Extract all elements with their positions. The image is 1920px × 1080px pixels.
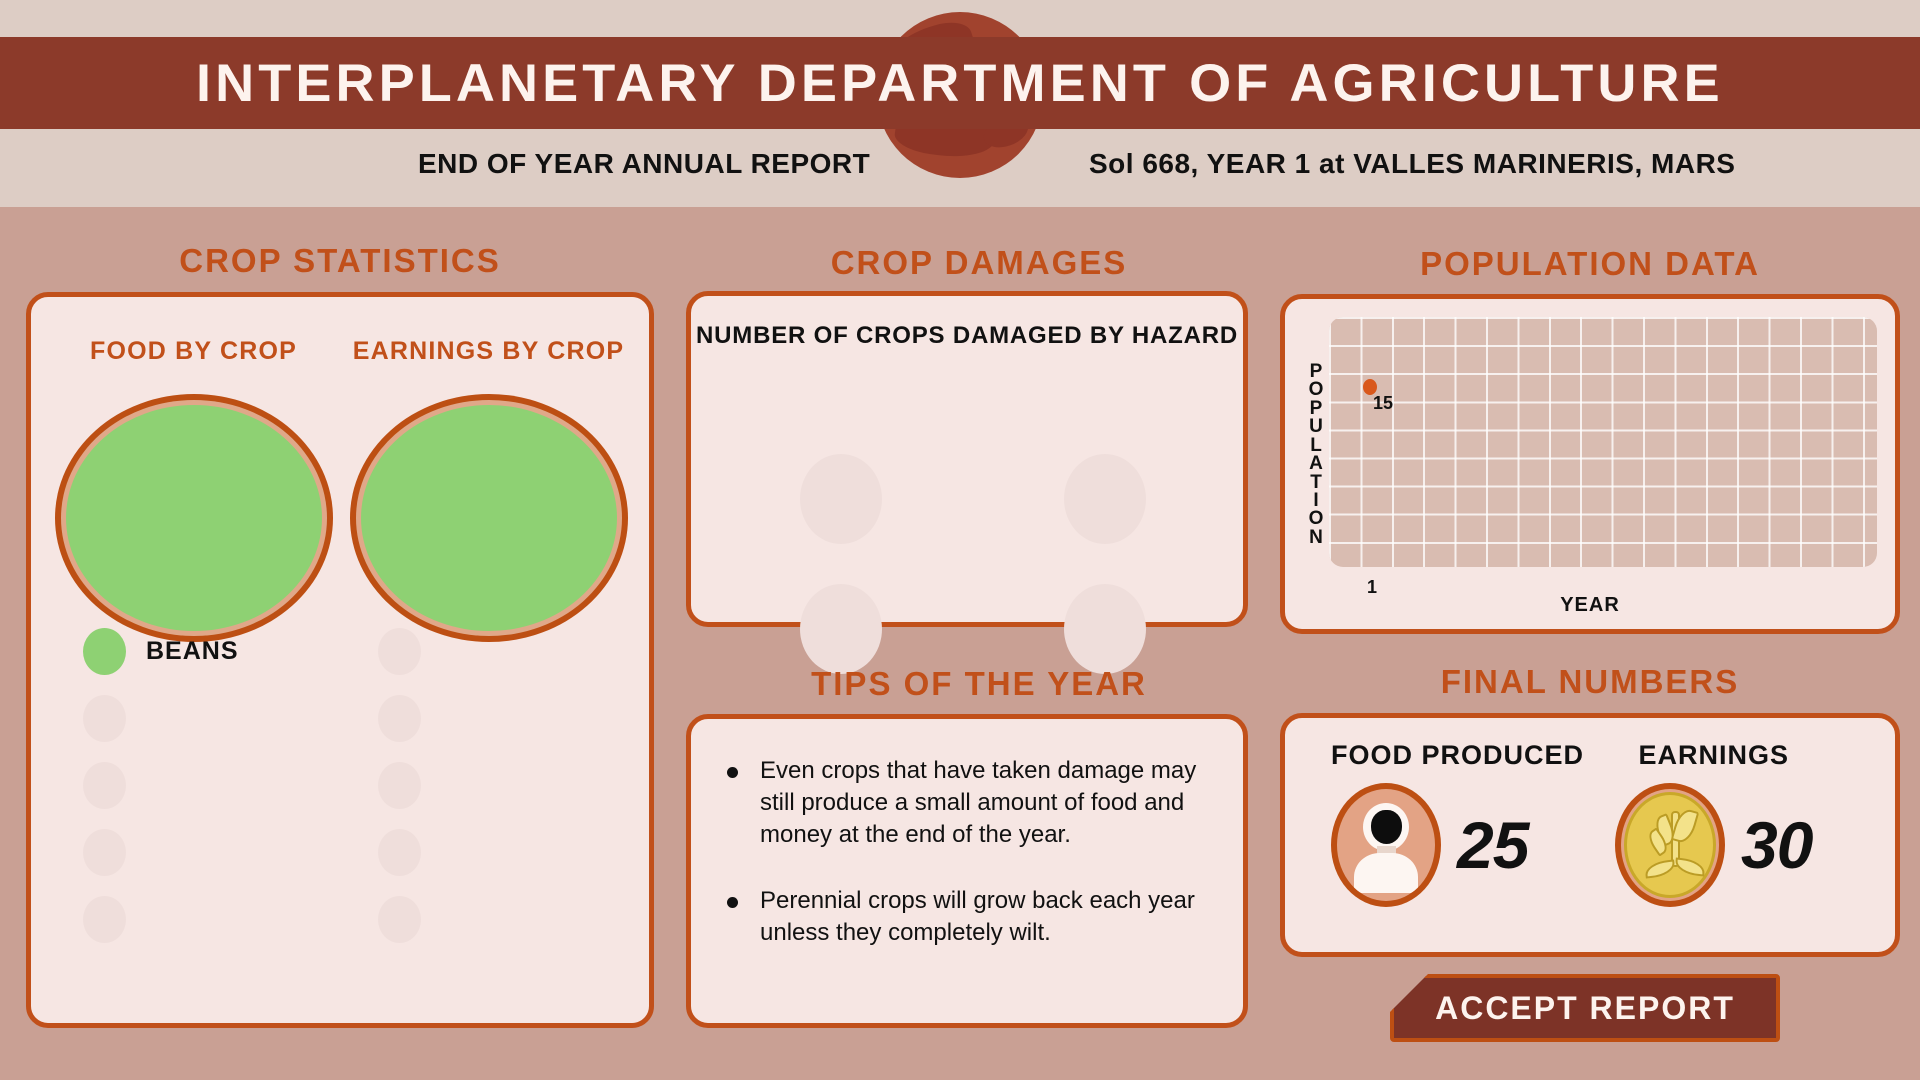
earnings-by-crop-label: EARNINGS BY CROP	[346, 337, 631, 366]
tip-text: Perennial crops will grow back each year…	[760, 885, 1219, 949]
hazard-slot-icon	[1064, 584, 1146, 674]
food-by-crop-label: FOOD BY CROP	[51, 337, 336, 366]
legend-swatch-icon	[378, 628, 421, 675]
page-title: INTERPLANETARY DEPARTMENT OF AGRICULTURE	[196, 53, 1724, 114]
tips-heading: TIPS OF THE YEAR	[686, 665, 1272, 703]
report-subtitle: END OF YEAR ANNUAL REPORT	[418, 148, 870, 180]
population-plot-area[interactable]	[1329, 317, 1877, 567]
subtitle-row: END OF YEAR ANNUAL REPORT Sol 668, YEAR …	[0, 148, 1920, 194]
hazard-subheading: NUMBER OF CROPS DAMAGED BY HAZARD	[691, 322, 1243, 350]
earnings-legend	[346, 627, 631, 962]
crop-statistics-panel: FOOD BY CROP EARNINGS BY CROP BEANS	[26, 292, 654, 1028]
final-numbers-panel: FOOD PRODUCED 25 EARNINGS	[1280, 713, 1900, 957]
hazard-slot-icon	[1064, 454, 1146, 544]
earnings-by-crop-pie[interactable]	[350, 392, 628, 644]
legend-swatch-icon	[83, 695, 126, 742]
final-numbers-heading: FINAL NUMBERS	[1280, 663, 1900, 701]
hazard-slot-icon	[800, 584, 882, 674]
list-item: Perennial crops will grow back each year…	[727, 885, 1219, 949]
bullet-icon	[727, 767, 738, 778]
pie-slice-beans	[361, 405, 617, 631]
astronaut-icon	[1331, 783, 1441, 907]
list-item[interactable]	[51, 761, 336, 810]
header: INTERPLANETARY DEPARTMENT OF AGRICULTURE…	[0, 0, 1920, 207]
food-by-crop-column: FOOD BY CROP	[51, 337, 336, 644]
tips-panel: Even crops that have taken damage may st…	[686, 714, 1248, 1028]
tip-text: Even crops that have taken damage may st…	[760, 755, 1219, 851]
legend-swatch-icon	[378, 762, 421, 809]
wheat-coin-icon	[1615, 783, 1725, 907]
list-item: Even crops that have taken damage may st…	[727, 755, 1219, 851]
legend-swatch-icon	[83, 628, 126, 675]
legend-label: BEANS	[146, 637, 239, 666]
x-axis-label: YEAR	[1285, 594, 1895, 617]
earnings-by-crop-column: EARNINGS BY CROP	[346, 337, 631, 644]
y-axis-tick: 15	[1373, 393, 1393, 414]
hazard-slot-icon	[800, 454, 882, 544]
list-item[interactable]	[346, 761, 631, 810]
plot-gridlines	[1329, 317, 1877, 567]
food-by-crop-pie[interactable]	[55, 392, 333, 644]
earnings-label: EARNINGS	[1615, 740, 1812, 771]
y-axis-label: POPULATION	[1303, 363, 1329, 547]
earnings-value: 30	[1741, 807, 1812, 883]
list-item[interactable]	[51, 828, 336, 877]
bullet-icon	[727, 897, 738, 908]
tips-list: Even crops that have taken damage may st…	[727, 755, 1219, 983]
legend-swatch-icon	[83, 762, 126, 809]
earnings-stat: EARNINGS 30	[1615, 740, 1812, 907]
annual-report-screen: INTERPLANETARY DEPARTMENT OF AGRICULTURE…	[0, 0, 1920, 1080]
list-item[interactable]	[346, 895, 631, 944]
list-item[interactable]	[51, 895, 336, 944]
list-item[interactable]	[51, 694, 336, 743]
crop-statistics-heading: CROP STATISTICS	[26, 242, 654, 280]
accept-report-button[interactable]: ACCEPT REPORT	[1390, 974, 1780, 1042]
legend-swatch-icon	[378, 896, 421, 943]
report-location-date: Sol 668, YEAR 1 at VALLES MARINERIS, MAR…	[1089, 148, 1735, 180]
title-bar: INTERPLANETARY DEPARTMENT OF AGRICULTURE	[0, 37, 1920, 129]
legend-swatch-icon	[378, 695, 421, 742]
list-item[interactable]: BEANS	[51, 627, 336, 676]
legend-swatch-icon	[378, 829, 421, 876]
pie-slice-beans	[66, 405, 322, 631]
food-produced-value: 25	[1457, 807, 1528, 883]
list-item[interactable]	[346, 828, 631, 877]
list-item[interactable]	[346, 694, 631, 743]
food-produced-label: FOOD PRODUCED	[1331, 740, 1584, 771]
crop-damages-panel: NUMBER OF CROPS DAMAGED BY HAZARD	[686, 291, 1248, 627]
legend-swatch-icon	[83, 829, 126, 876]
population-data-heading: POPULATION DATA	[1280, 245, 1900, 283]
list-item[interactable]	[346, 627, 631, 676]
legend-swatch-icon	[83, 896, 126, 943]
food-legend: BEANS	[51, 627, 336, 962]
population-data-panel: POPULATION 15 1 YEAR	[1280, 294, 1900, 634]
crop-damages-heading: CROP DAMAGES	[686, 244, 1272, 282]
food-produced-stat: FOOD PRODUCED 25	[1331, 740, 1584, 907]
